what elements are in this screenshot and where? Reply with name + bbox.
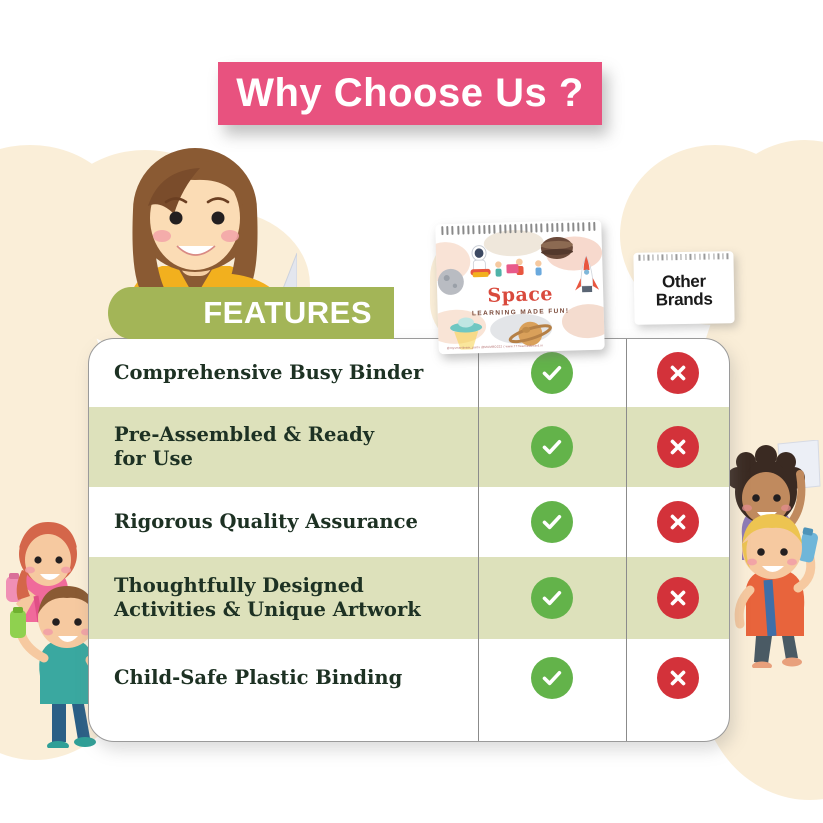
feature-label: Pre-Assembled & Readyfor Use — [89, 423, 478, 471]
feature-label: Comprehensive Busy Binder — [89, 361, 478, 385]
page-title: Why Choose Us ? — [236, 71, 584, 116]
kids-right-illustration — [716, 440, 823, 668]
check-icon — [531, 352, 573, 394]
cross-icon — [657, 352, 699, 394]
cross-icon — [657, 501, 699, 543]
why-choose-us-infographic: Why Choose Us ? — [0, 0, 823, 823]
table-body: Comprehensive Busy BinderPre-Assembled &… — [89, 339, 729, 741]
ours-mark-cell — [478, 577, 626, 619]
theirs-mark-cell — [626, 577, 729, 619]
theirs-mark-cell — [626, 352, 729, 394]
other-brands-card[interactable]: Other Brands — [633, 251, 734, 325]
product-binder-card[interactable]: Space LEARNING MADE FUN! @mysmartbrain_p… — [435, 220, 605, 355]
table-row: Comprehensive Busy Binder — [89, 339, 729, 407]
ours-mark-cell — [478, 501, 626, 543]
theirs-mark-cell — [626, 426, 729, 468]
cross-icon — [657, 577, 699, 619]
features-banner: FEATURES — [108, 287, 394, 339]
other-brands-label: Other Brands — [655, 273, 712, 309]
column-divider-2 — [626, 339, 627, 741]
check-icon — [531, 657, 573, 699]
feature-label: Rigorous Quality Assurance — [89, 510, 478, 534]
theirs-mark-cell — [626, 657, 729, 699]
check-icon — [531, 426, 573, 468]
ours-mark-cell — [478, 657, 626, 699]
column-divider-1 — [478, 339, 479, 741]
cross-icon — [657, 426, 699, 468]
kids-cluster-icon — [495, 258, 542, 277]
comparison-table: Comprehensive Busy BinderPre-Assembled &… — [88, 338, 730, 742]
ours-mark-cell — [478, 426, 626, 468]
table-row: Child-Safe Plastic Binding — [89, 639, 729, 717]
ours-mark-cell — [478, 352, 626, 394]
features-label: FEATURES — [203, 295, 372, 331]
page-title-banner: Why Choose Us ? — [218, 62, 602, 125]
theirs-mark-cell — [626, 501, 729, 543]
product-title: Space — [437, 282, 604, 309]
table-row: Pre-Assembled & Readyfor Use — [89, 407, 729, 487]
feature-label: Thoughtfully DesignedActivities & Unique… — [89, 574, 478, 622]
cross-icon — [657, 657, 699, 699]
feature-label: Child-Safe Plastic Binding — [89, 666, 478, 690]
planet-icon — [541, 237, 574, 260]
other-brands-line2: Brands — [656, 290, 713, 310]
table-row: Rigorous Quality Assurance — [89, 487, 729, 557]
astronaut-icon — [470, 245, 491, 277]
check-icon — [531, 577, 573, 619]
table-row: Thoughtfully DesignedActivities & Unique… — [89, 557, 729, 639]
spiral-binding — [638, 253, 728, 261]
check-icon — [531, 501, 573, 543]
